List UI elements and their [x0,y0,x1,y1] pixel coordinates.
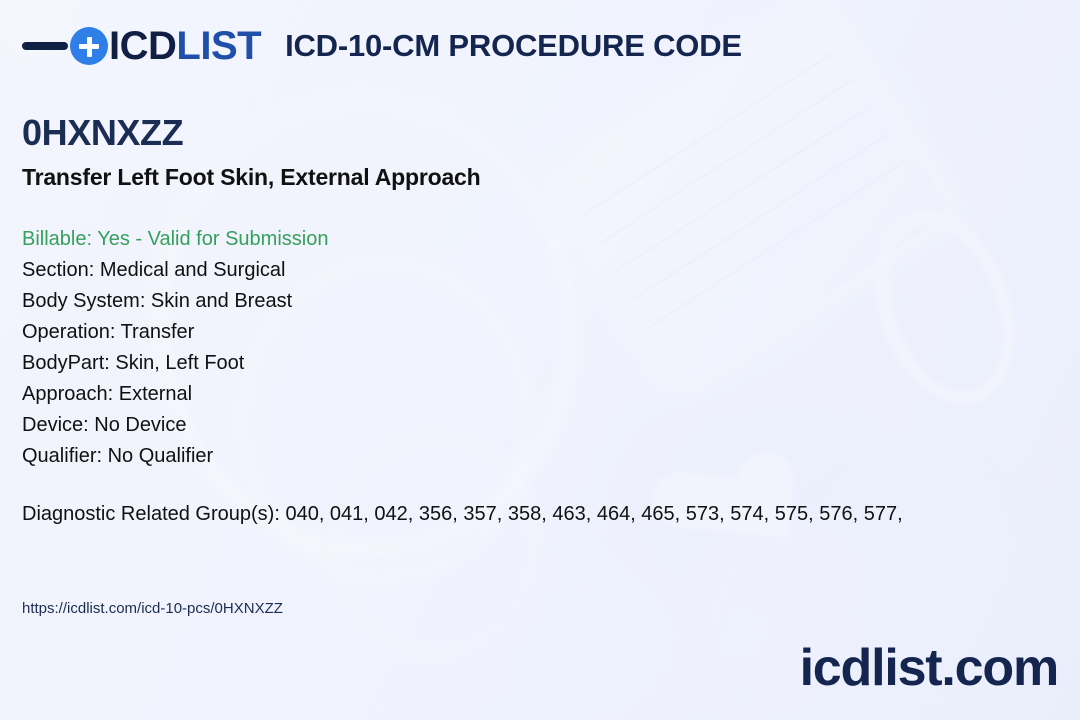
procedure-code-value: 0HXNXZZ [22,112,183,154]
billable-status: Billable: Yes - Valid for Submission [22,224,328,255]
footer-brand: icdlist.com [800,642,1058,694]
plus-circle-icon [70,27,108,65]
plus-icon-vertical-bar [87,37,92,57]
detail-row-body-system: Body System: Skin and Breast [22,286,328,317]
horizontal-dash-icon [22,42,68,50]
icdlist-logo[interactable]: ICDLIST [22,26,261,66]
code-details-list: Billable: Yes - Valid for Submission Sec… [22,224,328,472]
detail-row-device: Device: No Device [22,410,328,441]
source-url[interactable]: https://icdlist.com/icd-10-pcs/0HXNXZZ [22,600,283,617]
procedure-code-description: Transfer Left Foot Skin, External Approa… [22,164,481,191]
detail-row-section: Section: Medical and Surgical [22,255,328,286]
logo-wordmark: ICDLIST [109,26,261,66]
header: ICDLIST ICD-10-CM PROCEDURE CODE [22,26,742,66]
detail-row-operation: Operation: Transfer [22,317,328,348]
page-root: ICDLIST ICD-10-CM PROCEDURE CODE 0HXNXZZ… [0,0,1080,720]
page-title: ICD-10-CM PROCEDURE CODE [285,28,742,64]
logo-word-icd: ICD [109,24,176,68]
detail-row-qualifier: Qualifier: No Qualifier [22,441,328,472]
diagnostic-related-groups: Diagnostic Related Group(s): 040, 041, 0… [22,503,1080,526]
detail-row-approach: Approach: External [22,379,328,410]
logo-word-list: LIST [176,24,261,68]
detail-row-body-part: BodyPart: Skin, Left Foot [22,348,328,379]
